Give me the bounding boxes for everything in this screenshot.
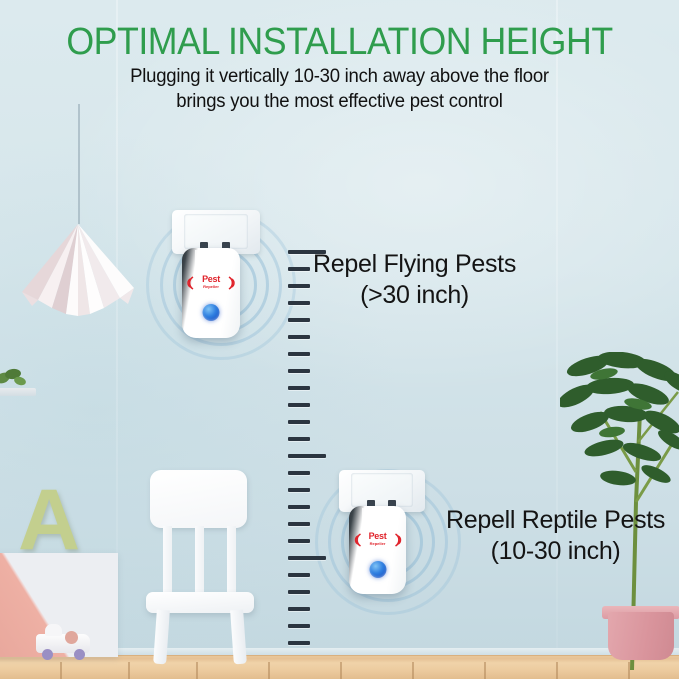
ruler-minor-tick [288,284,310,288]
callout-flying-pests: Repel Flying Pests (>30 inch) [313,249,516,311]
ruler-minor-tick [288,488,310,492]
ruler-minor-tick [288,607,310,611]
ruler-minor-tick [288,335,310,339]
ruler-minor-tick [288,505,310,509]
chair-post [227,526,236,596]
toy-car-cabin [45,624,62,636]
shelf-plant [0,366,26,390]
height-measuring-ruler [288,250,338,660]
ruler-minor-tick [288,590,310,594]
ruler-minor-tick [288,641,310,645]
plant-pot [608,612,674,660]
ruler-major-tick [288,556,326,560]
ruler-minor-tick [288,573,310,577]
ruler-minor-tick [288,369,310,373]
ruler-minor-tick [288,471,310,475]
ruler-minor-tick [288,403,310,407]
callout-reptile-line-1: Repell Reptile Pests [446,505,665,535]
ruler-minor-tick [288,386,310,390]
ruler-minor-tick [288,522,310,526]
ruler-minor-tick [288,539,310,543]
ruler-minor-tick [288,318,310,322]
lower-device-assembly: Pest Repeller [327,466,449,618]
ruler-minor-tick [288,301,310,305]
toy-car-wheel [74,649,85,660]
callout-reptile-line-2: (10-30 inch) [446,535,665,567]
callout-flying-line-2: (>30 inch) [313,279,516,311]
upper-device-led-indicator [203,304,220,321]
toy-car-wheel [42,649,53,660]
subtitle-line-2: brings you the most effective pest contr… [17,89,662,114]
ruler-minor-tick [288,352,310,356]
upper-pest-repeller-device: Pest Repeller [182,248,240,338]
callout-flying-line-1: Repel Flying Pests [313,249,516,279]
subtitle-line-1: Plugging it vertically 10-30 inch away a… [17,64,662,89]
chair-post [163,526,172,596]
chair-backrest [150,470,247,528]
lamp-cord [78,104,80,224]
callout-reptile-pests: Repell Reptile Pests (10-30 inch) [446,505,665,567]
ruler-minor-tick [288,420,310,424]
ruler-minor-tick [288,267,310,271]
lower-device-logo: Pest Repeller [352,532,403,547]
chair-post [195,526,204,596]
product-infographic: OPTIMAL INSTALLATION HEIGHT Plugging it … [0,0,679,679]
decor-letter: A [18,477,80,563]
ruler-major-tick [288,454,326,458]
lower-pest-repeller-device: Pest Repeller [349,506,406,594]
upper-device-logo: Pest Repeller [185,275,237,290]
page-title: OPTIMAL INSTALLATION HEIGHT [20,21,658,63]
ruler-minor-tick [288,437,310,441]
upper-device-assembly: Pest Repeller [160,206,282,364]
ruler-minor-tick [288,624,310,628]
toy-car-detail [65,631,78,644]
origami-pendant-lamp [8,222,148,330]
lower-device-led-indicator [369,561,386,578]
